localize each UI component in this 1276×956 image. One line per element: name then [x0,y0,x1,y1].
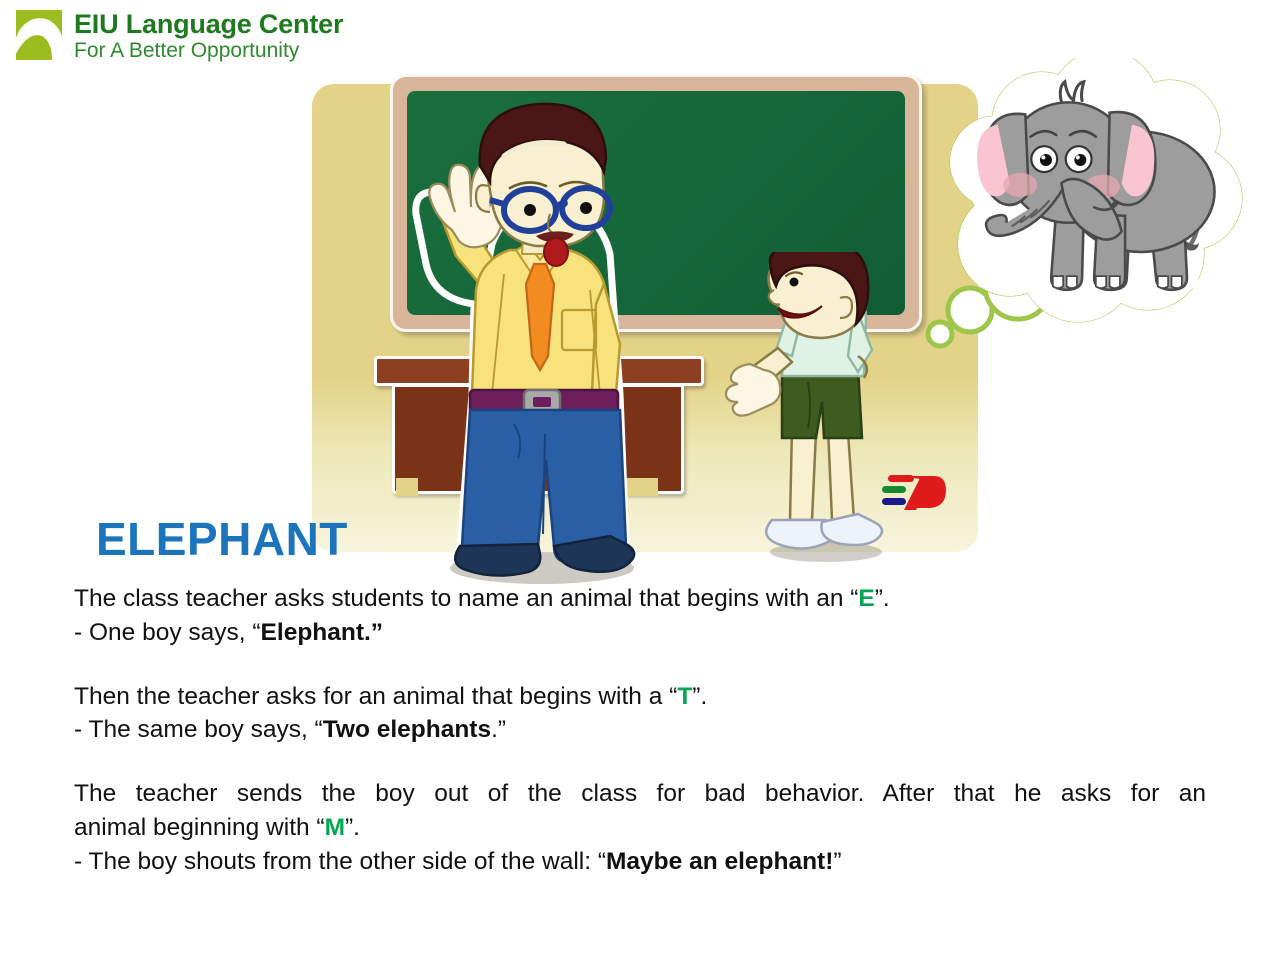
p1-l2-bold: Elephant.” [261,619,384,646]
paragraph-1-line-1: The class teacher asks students to name … [74,582,1206,616]
brand-header: EIU Language Center For A Better Opportu… [16,8,343,64]
teacher-character [364,94,674,594]
teacher-shoe-left [455,544,540,576]
paragraph-gap-1 [74,650,1206,680]
page-title: ELEPHANT [96,512,348,566]
story-body: The class teacher asks students to name … [74,582,1206,879]
brand-title: EIU Language Center [74,10,343,38]
paragraph-1-line-2: - One boy says, “Elephant.” [74,616,1206,650]
p2-l1-post: ”. [692,683,707,710]
p3-l3-pre: - The boy shouts from the other side of … [74,848,606,875]
thought-bubble [918,58,1248,368]
p3-l3-bold: Maybe an elephant! [606,848,833,875]
p3-l3-post: ” [833,848,841,875]
arch-bridge-logo-icon [16,8,64,64]
p2-l2-pre: - The same boy says, “ [74,716,323,743]
boy-hand [726,364,780,416]
p3-l1: The teacher sends the boy out of the cla… [74,780,1206,807]
p3-l2-pre: animal beginning with “ [74,814,325,841]
ed-watermark-logo [876,470,948,516]
paragraph-2-line-1: Then the teacher asks for an animal that… [74,680,1206,714]
slide-root: EIU Language Center For A Better Opportu… [0,0,1276,956]
paragraph-3-line-1: The teacher sends the boy out of the cla… [74,777,1206,811]
brand-text-block: EIU Language Center For A Better Opportu… [74,8,343,63]
paragraph-gap-2 [74,747,1206,777]
highlight-letter-m: M [325,814,345,841]
highlight-letter-t: T [677,683,692,710]
p2-l1-pre: Then the teacher asks for an animal that… [74,683,677,710]
p1-l1-pre: The class teacher asks students to name … [74,585,858,612]
p2-l2-bold: Two elephants [323,716,491,743]
paragraph-3-line-3: - The boy shouts from the other side of … [74,845,1206,879]
paragraph-3-line-2: animal beginning with “M”. [74,811,1206,845]
highlight-letter-e: E [858,585,874,612]
classroom-illustration [312,84,978,552]
boy-character [716,252,916,564]
boy-shorts [782,368,862,438]
p3-l2-post: ”. [345,814,360,841]
p1-l1-post: ”. [875,585,890,612]
boy-shoe-right [821,514,882,545]
p1-l2-pre: - One boy says, “ [74,619,261,646]
brand-tagline: For A Better Opportunity [74,39,343,63]
p2-l2-post: .” [491,716,506,743]
paragraph-2-line-2: - The same boy says, “Two elephants.” [74,713,1206,747]
